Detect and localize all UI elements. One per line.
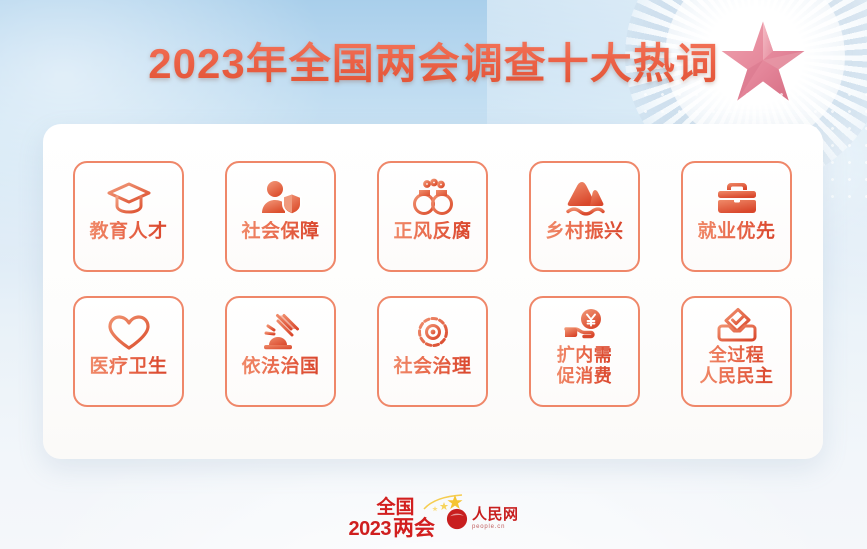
keywords-panel: 教育人才 社会保障 xyxy=(43,124,823,459)
event-logo-year: 2023 xyxy=(348,519,391,539)
keyword-label: 依法治国 xyxy=(241,356,319,378)
keyword-tile-rural-revitalization[interactable]: 乡村振兴 xyxy=(529,161,640,272)
event-logo-quanguo: 全国 xyxy=(376,498,414,517)
gavel-icon xyxy=(258,310,304,354)
keyword-label: 社会保障 xyxy=(241,221,319,243)
graduation-cap-icon xyxy=(106,175,152,219)
keyword-tile-healthcare[interactable]: 医疗卫生 xyxy=(73,296,184,407)
keyword-label: 正风反腐 xyxy=(393,221,471,243)
mountain-water-icon xyxy=(562,175,608,219)
keyword-label: 扩内需 促消费 xyxy=(557,345,613,387)
keyword-label: 医疗卫生 xyxy=(89,356,167,378)
keyword-tile-expand-demand-consumption[interactable]: 扩内需 促消费 xyxy=(529,296,640,407)
keyword-label: 就业优先 xyxy=(697,221,775,243)
publisher-name-cn: 人民网 xyxy=(472,507,519,522)
keyword-tile-social-governance[interactable]: 社会治理 xyxy=(377,296,488,407)
event-logo-top-row: 全国 xyxy=(376,498,414,517)
keyword-label: 教育人才 xyxy=(89,221,167,243)
publisher-text: 人民网 people.cn xyxy=(472,507,519,530)
gear-target-icon xyxy=(410,310,456,354)
keyword-tile-education-talent[interactable]: 教育人才 xyxy=(73,161,184,272)
briefcase-icon xyxy=(714,175,760,219)
event-logo: 全国 2023 两会 xyxy=(348,498,435,539)
keyword-tile-whole-process-democracy[interactable]: 全过程 人民民主 xyxy=(681,296,792,407)
keyword-tile-rule-of-law[interactable]: 依法治国 xyxy=(225,296,336,407)
keyword-label: 社会治理 xyxy=(393,356,471,378)
footer-logo-bar: 全国 2023 两会 人民网 people.cn xyxy=(0,498,867,539)
hand-yuan-coin-icon xyxy=(562,306,608,344)
ballot-box-check-icon xyxy=(714,306,760,344)
keyword-tile-anti-corruption[interactable]: 正风反腐 xyxy=(377,161,488,272)
heart-plus-icon xyxy=(106,310,152,354)
event-logo-bottom-row: 2023 两会 xyxy=(348,518,435,539)
keyword-grid: 教育人才 社会保障 xyxy=(73,161,793,407)
keyword-tile-employment-first[interactable]: 就业优先 xyxy=(681,161,792,272)
infographic-root: 2023年全国两会调查十大热词 xyxy=(0,0,867,549)
person-shield-icon xyxy=(258,175,304,219)
keyword-tile-social-security[interactable]: 社会保障 xyxy=(225,161,336,272)
keyword-label: 全过程 人民民主 xyxy=(700,345,774,387)
keyword-label: 乡村振兴 xyxy=(545,221,623,243)
logo-stars-icon xyxy=(422,493,466,517)
publisher-name-en: people.cn xyxy=(472,524,519,530)
page-title: 2023年全国两会调查十大热词 xyxy=(0,38,867,90)
event-logo-lianghui: 两会 xyxy=(393,518,435,539)
handcuffs-icon xyxy=(410,175,456,219)
